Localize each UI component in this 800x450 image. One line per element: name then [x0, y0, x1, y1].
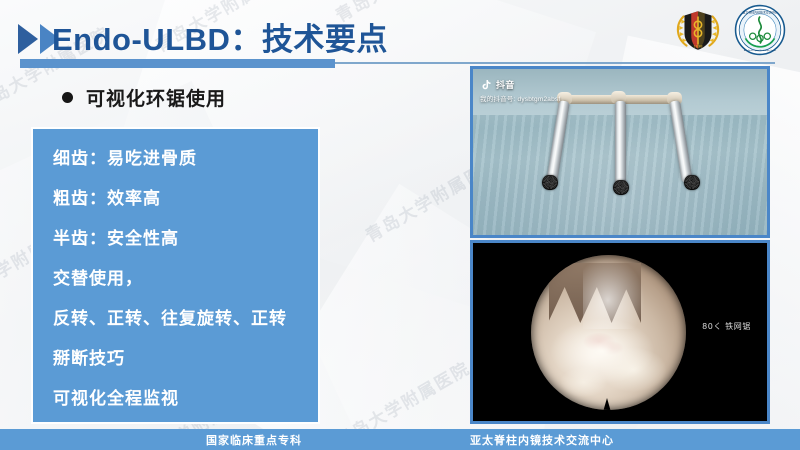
key-points-box: 细齿：易吃进骨质 粗齿：效率高 半齿：安全性高 交替使用， 反转、正转、往复旋转… — [31, 127, 320, 424]
title-underline-thick — [20, 59, 335, 68]
hospital-shield-emblem-icon: 1898 — [672, 4, 724, 56]
svg-text:亚太脊柱内镜技术交流中心: 亚太脊柱内镜技术交流中心 — [743, 9, 778, 14]
presentation-slide: 青岛大学附属医院 青岛大学附属医院 青岛大学附属医院 青岛大学附属医院 青岛大学… — [0, 0, 800, 450]
endoscope-black-background: 80く 铁网锯 — [473, 243, 767, 421]
key-point-line: 可视化全程监视 — [53, 379, 318, 419]
trephine-toothed-tip — [684, 175, 700, 190]
key-point-line: 粗齿：效率高 — [53, 179, 318, 219]
key-point-line: 细齿：易吃进骨质 — [53, 139, 318, 179]
footer-right-label: 亚太脊柱内镜技术交流中心 — [470, 432, 614, 448]
key-point-line: 交替使用， — [53, 259, 318, 299]
key-point-line: 半齿：安全性高 — [53, 219, 318, 259]
bullet-row: 可视化环锯使用 — [62, 84, 226, 111]
page-title: Endo-ULBD：技术要点 — [52, 14, 388, 59]
douyin-app-label: 抖音 — [496, 78, 515, 91]
spine-endoscopy-center-seal-icon: 亚太脊柱内镜技术交流中心 Asia-Pacific Spinal Endosco… — [734, 4, 786, 56]
footer-left-label: 国家临床重点专科 — [206, 432, 302, 448]
trephine-toothed-tip — [613, 180, 629, 195]
tissue-haze — [583, 257, 645, 329]
svg-text:1898: 1898 — [693, 45, 703, 49]
title-underline-thin — [335, 62, 775, 64]
endoscope-overlay-label: 80く 铁网锯 — [702, 321, 751, 332]
key-point-line: 反转、正转、往复旋转、正转 — [53, 299, 318, 339]
douyin-music-note-icon — [480, 78, 492, 91]
media-column: 抖音 我的抖音号: dysbtgm2absf 80く 铁网锯 — [470, 66, 770, 424]
endoscopic-video-panel: 80く 铁网锯 — [470, 240, 770, 424]
douyin-watermark: 抖音 我的抖音号: dysbtgm2absf — [480, 78, 560, 103]
bullet-label: 可视化环锯使用 — [86, 84, 226, 111]
douyin-account-id: 我的抖音号: dysbtgm2absf — [480, 93, 560, 103]
slide-header: Endo-ULBD：技术要点 — [0, 0, 800, 72]
trephine-instruments-photo: 抖音 我的抖音号: dysbtgm2absf — [470, 66, 770, 238]
slide-footer: 国家临床重点专科 亚太脊柱内镜技术交流中心 — [0, 429, 800, 450]
logo-group: 1898 亚太脊柱内镜技术交流中心 Asia-Pacific Spinal En… — [672, 4, 786, 56]
bullet-dot-icon — [62, 92, 73, 103]
endoscopic-circular-view — [531, 255, 686, 410]
trephine-shaft — [615, 101, 626, 185]
key-point-line: 掰断技巧 — [53, 339, 318, 379]
trephine-toothed-tip — [542, 175, 558, 190]
